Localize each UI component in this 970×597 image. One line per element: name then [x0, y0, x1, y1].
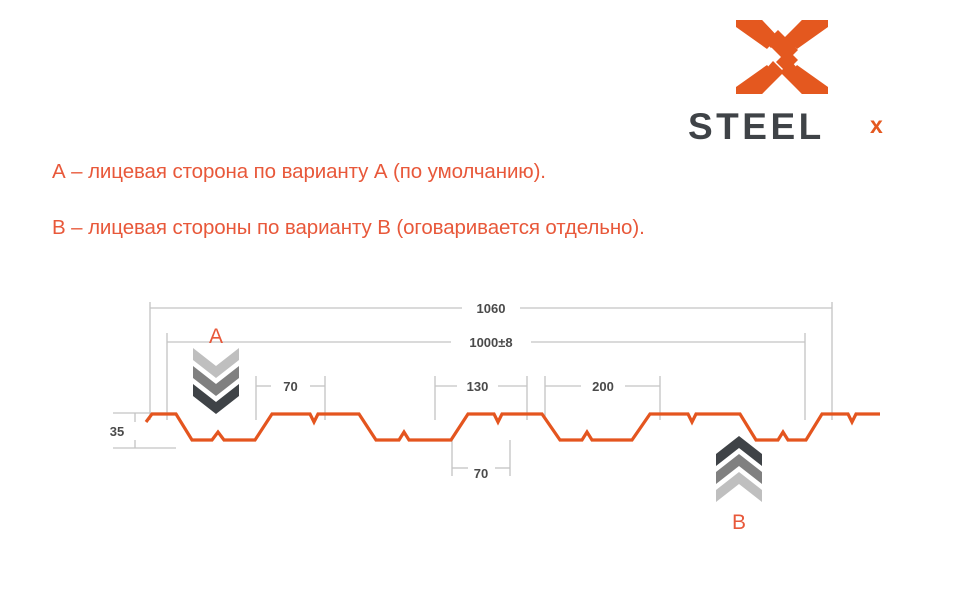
marker-variant-b: B: [716, 436, 762, 534]
page-root: STEEL x А – лицевая сторона по варианту …: [0, 0, 970, 597]
dimension-working-1000: 1000±8: [167, 333, 805, 420]
dimension-pitch-200: 200: [545, 376, 660, 420]
dimension-label-1000: 1000±8: [469, 335, 512, 350]
chevron-up-triple-icon: [716, 436, 762, 502]
brand-logo: STEEL x: [688, 18, 913, 143]
marker-variant-a: A: [193, 325, 239, 414]
wordmark-x-superscript: x: [870, 112, 883, 138]
dimension-label-valley-70: 70: [474, 466, 488, 481]
profile-technical-drawing: 1060 1000±8 70: [0, 280, 970, 560]
caption-variant-b: В – лицевая стороны по варианту В (огова…: [52, 216, 645, 240]
dimension-label-1060: 1060: [477, 301, 506, 316]
marker-label-b: B: [732, 511, 746, 534]
dimension-valley-70: 70: [452, 440, 510, 481]
wordmark-steel-text: STEEL: [688, 106, 825, 147]
dimension-label-35: 35: [110, 424, 124, 439]
dimension-label-130: 130: [467, 379, 489, 394]
chevron-down-triple-icon: [193, 348, 239, 414]
marker-label-a: A: [209, 325, 223, 348]
dimension-label-200: 200: [592, 379, 614, 394]
dimension-overall-1060: 1060: [150, 301, 832, 420]
brand-wordmark: STEEL x: [688, 106, 913, 146]
steelx-x-logo-icon: [736, 18, 828, 96]
dimension-label-rib-top-70: 70: [283, 379, 297, 394]
caption-variant-a: А – лицевая сторона по варианту А (по ум…: [52, 160, 546, 184]
dimension-height-35: 35: [110, 413, 176, 448]
